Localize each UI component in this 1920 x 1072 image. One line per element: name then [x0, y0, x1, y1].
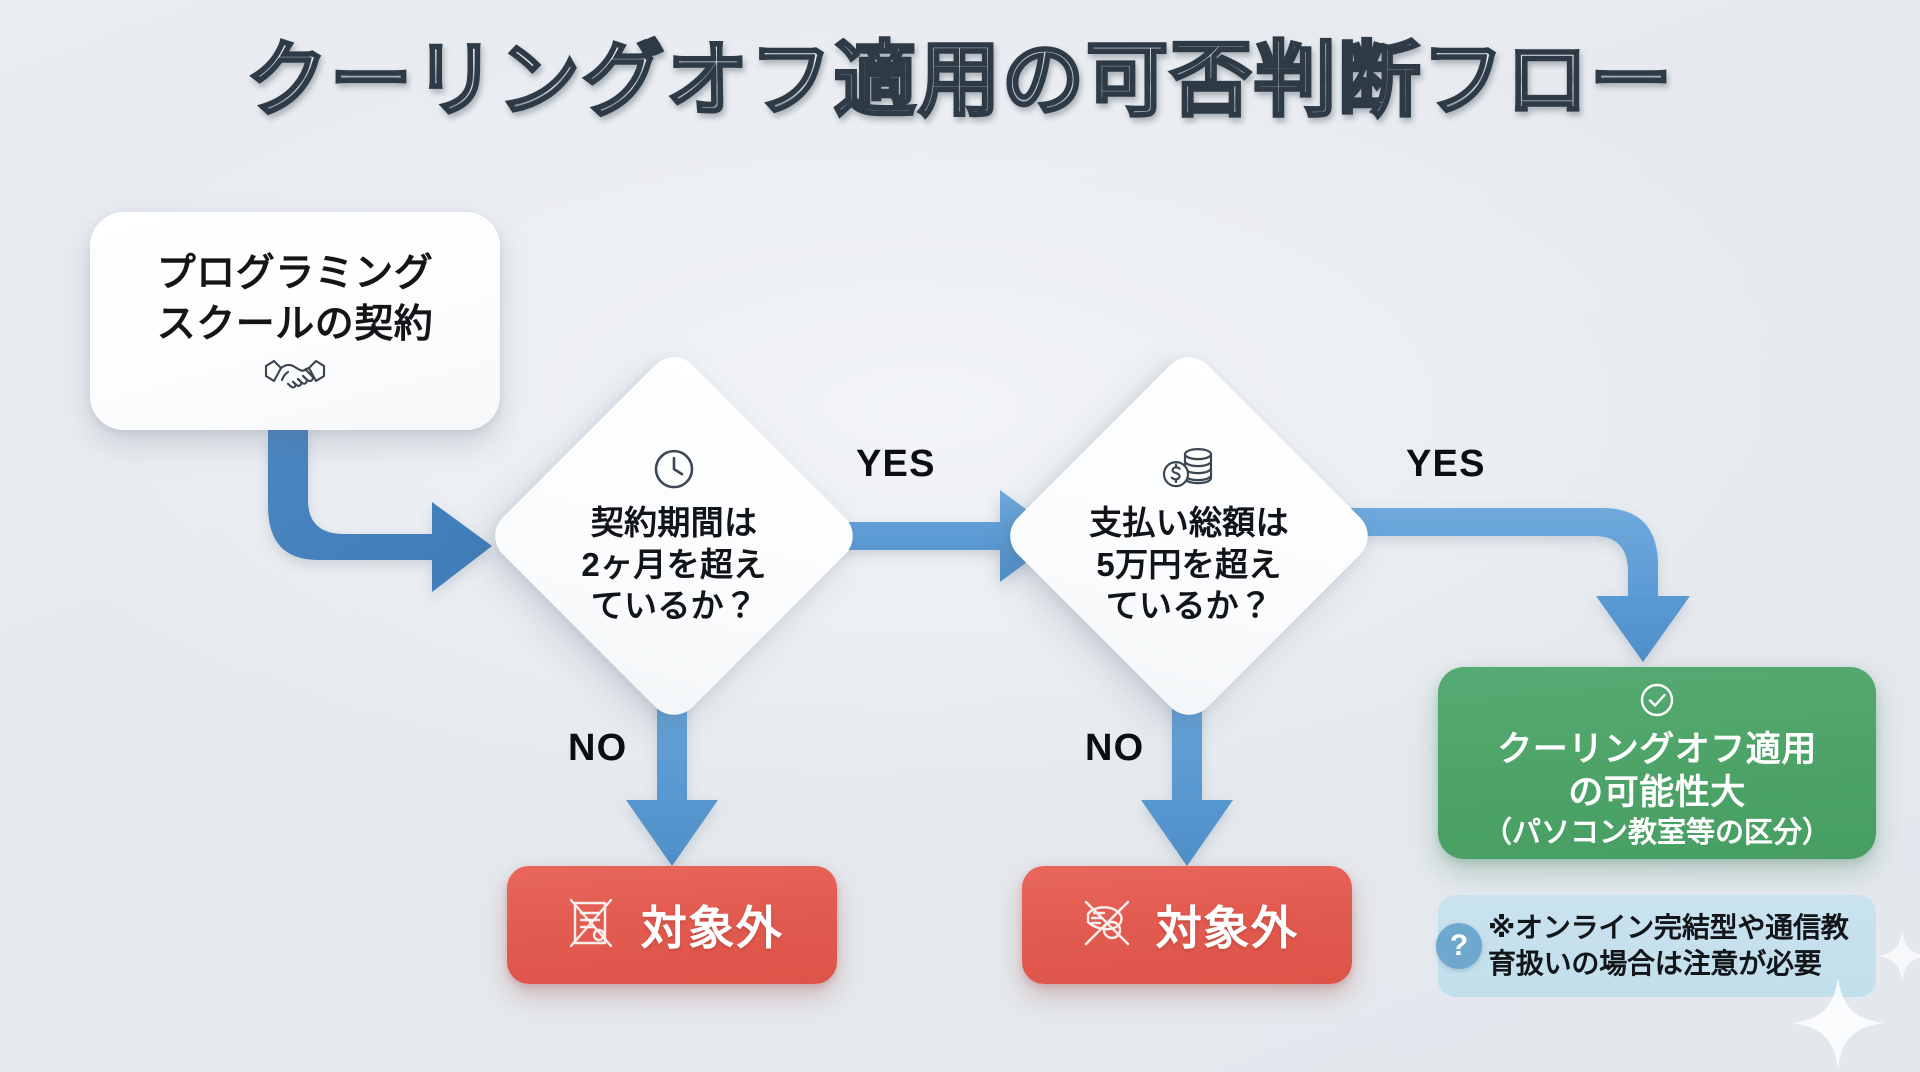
- node-decision1-line2: 2ヶ月を超え: [524, 544, 824, 586]
- node-note-text: ※オンライン完結型や通信教 育扱いの場合は注意が必要: [1488, 910, 1849, 983]
- handshake-icon: [262, 354, 328, 399]
- node-accept-line2: の可能性大: [1568, 771, 1746, 814]
- edge-label-no-1: NO: [568, 727, 627, 770]
- sparkle-bottom-right-small-icon: [1876, 930, 1920, 982]
- node-decision2-line2: 5万円を超え: [1039, 544, 1339, 586]
- document-crossed-out-icon: [561, 892, 623, 959]
- node-decision1-line3: ているか？: [524, 585, 824, 627]
- clock-icon: [524, 445, 824, 498]
- node-result-accept[interactable]: クーリングオフ適用 の可能性大 （パソコン教室等の区分）: [1438, 667, 1876, 859]
- flowchart-canvas: クーリングオフ適用の可否判断フロー: [0, 0, 1920, 1072]
- node-accept-line3: （パソコン教室等の区分）: [1483, 815, 1831, 851]
- node-start-line1: プログラミング: [157, 249, 434, 300]
- money-crossed-out-icon: [1076, 892, 1138, 959]
- coins-dollar-icon: [1039, 445, 1339, 498]
- check-circle-icon: [1636, 679, 1678, 726]
- node-decision1-line1: 契約期間は: [524, 502, 824, 544]
- node-note[interactable]: ? ※オンライン完結型や通信教 育扱いの場合は注意が必要: [1438, 895, 1876, 997]
- node-start[interactable]: プログラミング スクールの契約: [90, 212, 500, 430]
- node-result-reject-1-label: 対象外: [641, 892, 784, 958]
- node-decision-total-payment[interactable]: 支払い総額は 5万円を超え ているか？: [1055, 402, 1323, 670]
- node-decision2-line3: ているか？: [1039, 585, 1339, 627]
- node-result-reject-2[interactable]: 対象外: [1022, 866, 1352, 984]
- node-decision2-line1: 支払い総額は: [1039, 502, 1339, 544]
- node-start-line2: スクールの契約: [157, 300, 434, 351]
- node-accept-line1: クーリングオフ適用: [1497, 728, 1817, 771]
- edge-label-yes-1: YES: [856, 443, 936, 486]
- page-title: クーリングオフ適用の可否判断フロー: [0, 38, 1920, 124]
- edge-label-yes-2: YES: [1406, 443, 1486, 486]
- edge-label-no-2: NO: [1085, 727, 1144, 770]
- edge-start-to-decision1: [268, 430, 492, 592]
- node-result-reject-2-label: 対象外: [1156, 892, 1299, 958]
- node-result-reject-1[interactable]: 対象外: [507, 866, 837, 984]
- question-mark-icon: ?: [1436, 923, 1482, 969]
- edge-decision2-yes: [1342, 508, 1690, 662]
- node-decision-contract-period[interactable]: 契約期間は 2ヶ月を超え ているか？: [540, 402, 808, 670]
